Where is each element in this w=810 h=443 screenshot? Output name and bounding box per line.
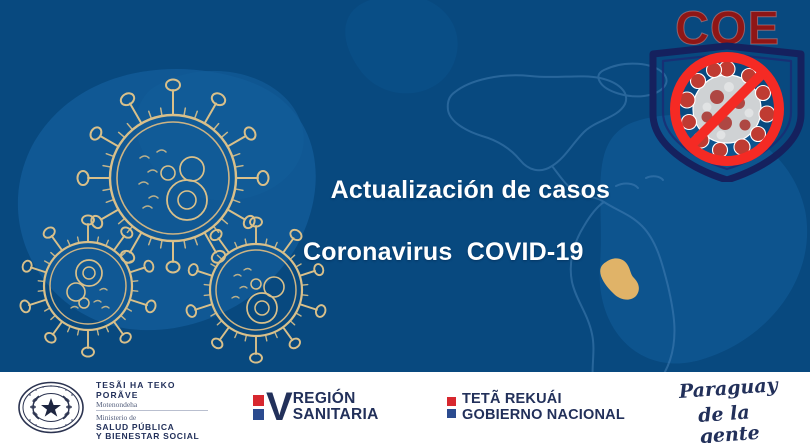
footer-bar: TESÃI HA TEKO PORÃVE Motenondeha Ministe… [0,372,810,443]
blue-square-icon [447,409,456,418]
region-line-2: SANITARIA [293,407,379,424]
covid-update-poster: Actualización de casos Coronavirus COVID… [0,0,810,443]
paraguay-coat-of-arms-icon [17,380,85,435]
coe-shield-graphic [645,2,810,182]
region-text: REGIÓN SANITARIA [293,391,379,424]
ministry-line-2: PORÃVE [96,391,216,401]
red-square-icon [253,395,264,406]
ministry-line-4: Ministerio de [96,413,216,423]
region-letter-v: V [266,387,291,427]
coe-badge: COE [645,2,810,182]
ministry-line-3: Motenondeha [96,400,208,411]
gobierno-line-2: GOBIERNO NACIONAL [462,407,625,423]
region-flag-squares [253,395,264,420]
gobierno-flag-squares [447,397,456,418]
page-title: Actualización de casos Coronavirus COVID… [303,144,610,330]
brand-line-2: de la gente [698,399,797,443]
ministry-lockup: TESÃI HA TEKO PORÃVE Motenondeha Ministe… [96,381,216,442]
region-line-1: REGIÓN [293,391,379,408]
red-square-icon [447,397,456,406]
headline-line-1: Actualización de casos [331,176,611,204]
blue-square-icon [253,409,264,420]
gobierno-text: TETÃ REKUÁI GOBIERNO NACIONAL [462,391,625,423]
brand-line-1: Paraguay [678,375,778,403]
gobierno-line-1: TETÃ REKUÁI [462,391,625,407]
gobierno-nacional-logo: TETÃ REKUÁI GOBIERNO NACIONAL [447,391,625,423]
region-sanitaria-logo: V REGIÓN SANITARIA [253,386,379,428]
paraguay-de-la-gente-logo: Paraguay de la gente [655,382,795,434]
ministry-line-6: Y BIENESTAR SOCIAL [96,432,216,442]
headline-line-2: Coronavirus COVID-19 [303,237,610,268]
